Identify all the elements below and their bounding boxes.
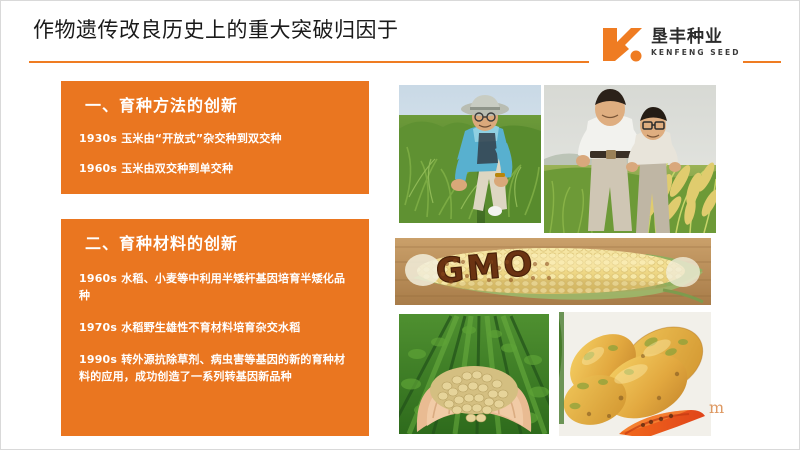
list-item: 1960s 水稻、小麦等中利用半矮杆基因培育半矮化品种 xyxy=(79,270,353,304)
brand-logo-text: 垦丰种业 KENFENG SEED xyxy=(651,28,779,58)
panel-heading-methods: 一、育种方法的创新 xyxy=(85,95,353,117)
photo-wheat-researcher xyxy=(399,85,541,223)
panel-list-materials: 1960s 水稻、小麦等中利用半矮杆基因培育半矮化品种 1970s 水稻野生雄性… xyxy=(79,270,353,385)
list-item: 1970s 水稻野生雄性不育材料培育杂交水稻 xyxy=(79,319,353,336)
panel-heading-materials: 二、育种材料的创新 xyxy=(85,233,353,255)
panel-breeding-materials: 二、育种材料的创新 1960s 水稻、小麦等中利用半矮杆基因培育半矮化品种 19… xyxy=(61,219,369,436)
slide-canvas: 作物遗传改良历史上的重大突破归因于 垦丰种业 KENFENG SEED 一、育种… xyxy=(0,0,800,450)
header-divider-left xyxy=(29,61,589,63)
k-mark-icon xyxy=(601,27,643,63)
panel-list-methods: 1930s 玉米由“开放式”杂交种到双交种 1960s 玉米由双交种到单交种 xyxy=(79,130,353,177)
brand-name-en: KENFENG SEED xyxy=(651,48,779,58)
photo-gmo-corn: GMO xyxy=(395,238,711,305)
photo-rice-scientists xyxy=(544,85,716,233)
page-title: 作物遗传改良历史上的重大突破归因于 xyxy=(33,15,399,45)
photo-papaya xyxy=(559,312,711,436)
brand-logo: 垦丰种业 KENFENG SEED xyxy=(601,27,779,63)
panel-breeding-methods: 一、育种方法的创新 1930s 玉米由“开放式”杂交种到双交种 1960s 玉米… xyxy=(61,81,369,194)
list-item: 1930s 玉米由“开放式”杂交种到双交种 xyxy=(79,130,353,147)
list-item: 1960s 玉米由双交种到单交种 xyxy=(79,160,353,177)
watermark-text: m xyxy=(709,399,724,417)
list-item: 1990s 转外源抗除草剂、病虫害等基因的新的育种材料的应用，成功创造了一系列转… xyxy=(79,351,353,385)
brand-name-cn: 垦丰种业 xyxy=(651,28,779,47)
photo-soybean-hands xyxy=(399,314,549,434)
